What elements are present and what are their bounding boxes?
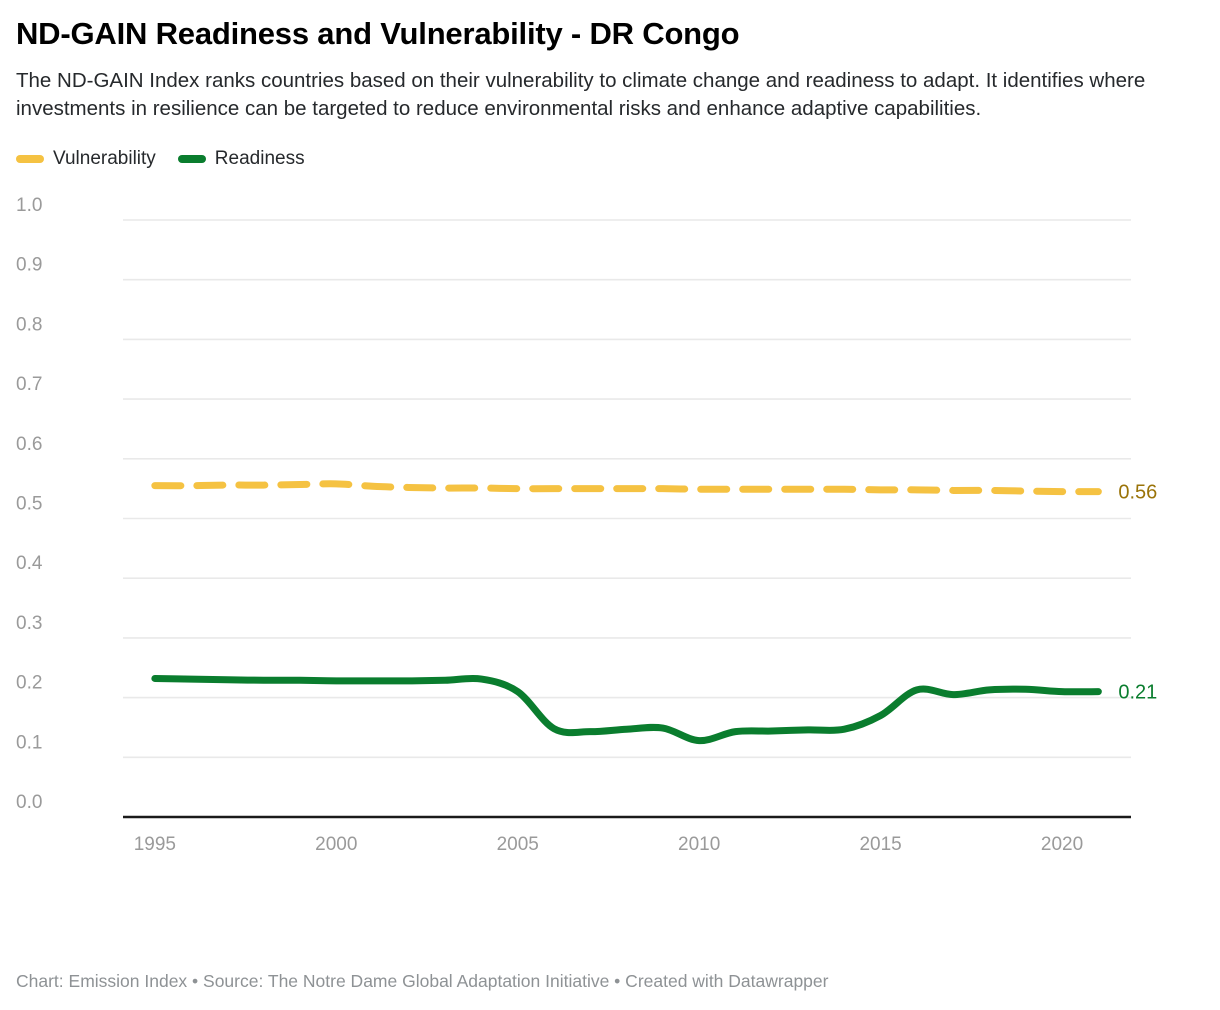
chart-footer: Chart: Emission Index • Source: The Notr… xyxy=(16,971,828,992)
series-line-vulnerability[interactable] xyxy=(155,484,1098,492)
x-axis-tick-label: 2005 xyxy=(497,834,539,855)
y-axis-tick-label: 0.9 xyxy=(16,254,42,275)
legend-item-vulnerability[interactable]: Vulnerability xyxy=(16,148,156,170)
page-title: ND-GAIN Readiness and Vulnerability - DR… xyxy=(16,0,1204,52)
line-chart-svg[interactable]: 0.00.10.20.30.40.50.60.70.80.91.01995200… xyxy=(16,190,1204,890)
chart-page: ND-GAIN Readiness and Vulnerability - DR… xyxy=(0,0,1220,1010)
y-axis-tick-label: 0.2 xyxy=(16,672,42,693)
legend-swatch-readiness xyxy=(178,155,206,163)
y-axis-tick-label: 0.8 xyxy=(16,314,42,335)
y-axis-tick-label: 0.4 xyxy=(16,553,43,574)
legend-label-vulnerability: Vulnerability xyxy=(53,148,156,170)
y-axis-tick-label: 0.7 xyxy=(16,374,42,395)
y-axis-tick-label: 0.5 xyxy=(16,493,42,514)
chart-plot-area[interactable]: 0.00.10.20.30.40.50.60.70.80.91.01995200… xyxy=(16,190,1204,890)
series-end-label-vulnerability: 0.56 xyxy=(1118,481,1157,503)
x-axis-tick-label: 2010 xyxy=(678,834,720,855)
x-axis-tick-label: 2015 xyxy=(859,834,901,855)
y-axis-tick-label: 0.0 xyxy=(16,792,42,813)
x-axis-tick-label: 2000 xyxy=(315,834,357,855)
x-axis-tick-label: 1995 xyxy=(134,834,176,855)
x-axis-tick-label: 2020 xyxy=(1041,834,1083,855)
series-end-label-readiness: 0.21 xyxy=(1118,681,1157,703)
chart-description: The ND-GAIN Index ranks countries based … xyxy=(16,52,1204,124)
y-axis-tick-label: 0.6 xyxy=(16,434,42,455)
y-axis-tick-label: 0.1 xyxy=(16,732,42,753)
legend-item-readiness[interactable]: Readiness xyxy=(178,148,305,170)
y-axis-tick-label: 0.3 xyxy=(16,613,42,634)
series-line-readiness[interactable] xyxy=(155,678,1098,740)
legend-label-readiness: Readiness xyxy=(215,148,305,170)
y-axis-tick-label: 1.0 xyxy=(16,195,42,216)
legend-swatch-vulnerability xyxy=(16,155,44,163)
chart-legend: Vulnerability Readiness xyxy=(16,124,1204,174)
